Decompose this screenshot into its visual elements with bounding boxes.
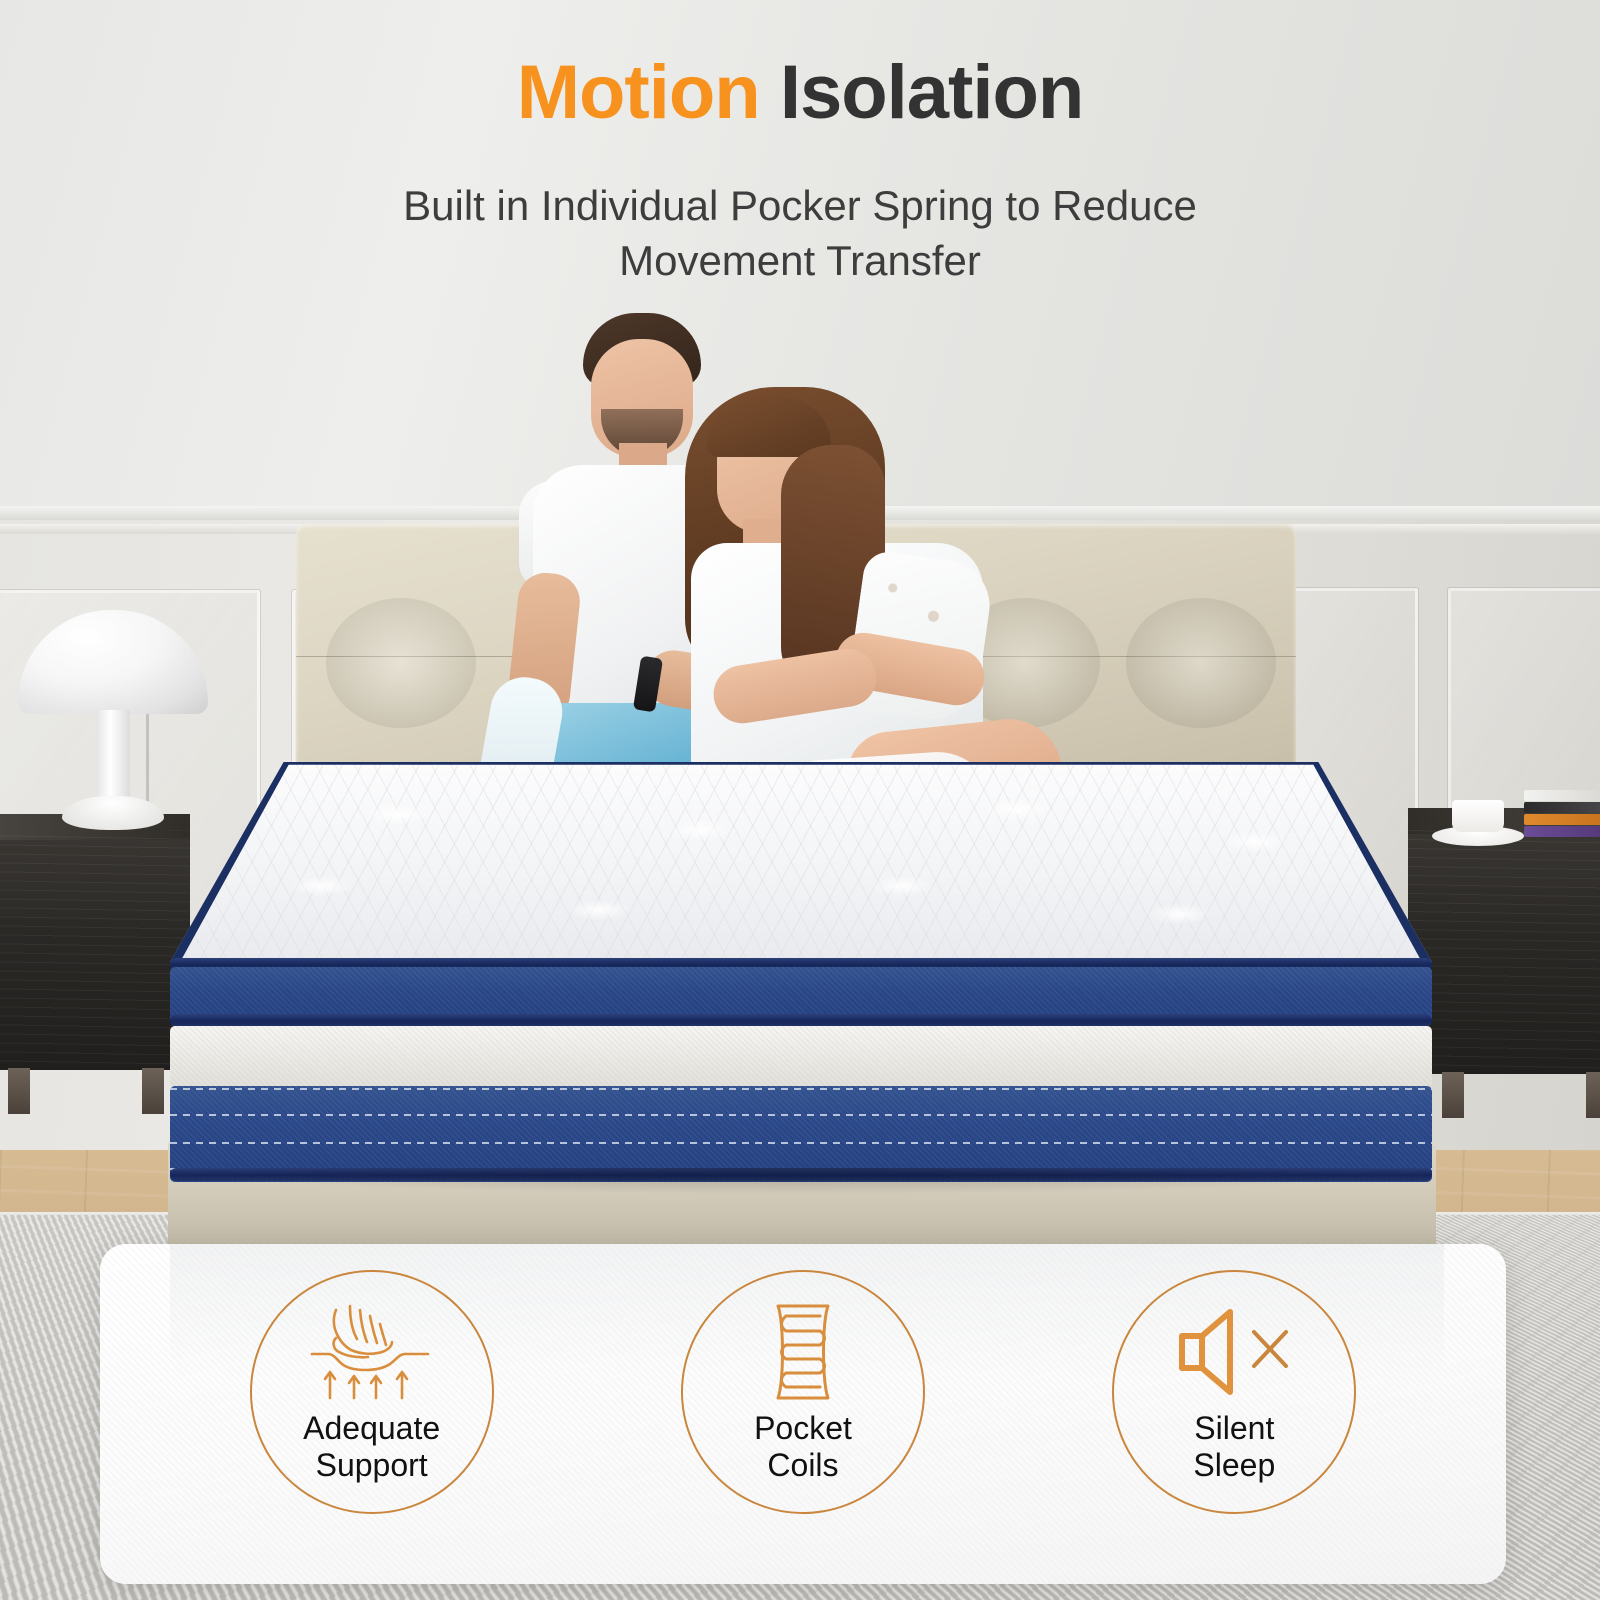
- mattress-quilted-top: [170, 762, 1432, 962]
- mattress-drop-shadow: [178, 1168, 1426, 1194]
- feature-badge-label: Adequate Support: [303, 1410, 440, 1484]
- page-subtitle: Built in Individual Pocker Spring to Red…: [0, 178, 1600, 289]
- feature-badge-label: Silent Sleep: [1193, 1410, 1275, 1484]
- mattress-white-mesh-band: [170, 1026, 1432, 1088]
- nightstand-left: [0, 830, 190, 1070]
- mattress: [170, 762, 1432, 1172]
- page-title: Motion Isolation: [0, 52, 1600, 134]
- nightstand-right: [1408, 824, 1600, 1074]
- subtitle-line-1: Built in Individual Pocker Spring to Red…: [403, 182, 1197, 229]
- feature-badge-list: Adequate Support Pocket Coils: [100, 1244, 1506, 1584]
- hand-press-support-icon: [306, 1300, 438, 1404]
- feature-panel: Adequate Support Pocket Coils: [100, 1244, 1506, 1584]
- feature-badge-adequate-support[interactable]: Adequate Support: [250, 1270, 494, 1514]
- coffee-cup: [1452, 800, 1504, 832]
- subtitle-line-2: Movement Transfer: [619, 237, 981, 284]
- stacked-books: [1524, 790, 1600, 836]
- headline-main-word: Isolation: [760, 50, 1084, 135]
- feature-badge-pocket-coils[interactable]: Pocket Coils: [681, 1270, 925, 1514]
- lamp-shade: [18, 610, 208, 714]
- feature-badge-silent-sleep[interactable]: Silent Sleep: [1112, 1270, 1356, 1514]
- pocket-coil-spring-icon: [760, 1300, 846, 1404]
- feature-badge-label: Pocket Coils: [754, 1410, 852, 1484]
- muted-speaker-icon: [1174, 1300, 1294, 1404]
- headline-accent-word: Motion: [517, 50, 760, 135]
